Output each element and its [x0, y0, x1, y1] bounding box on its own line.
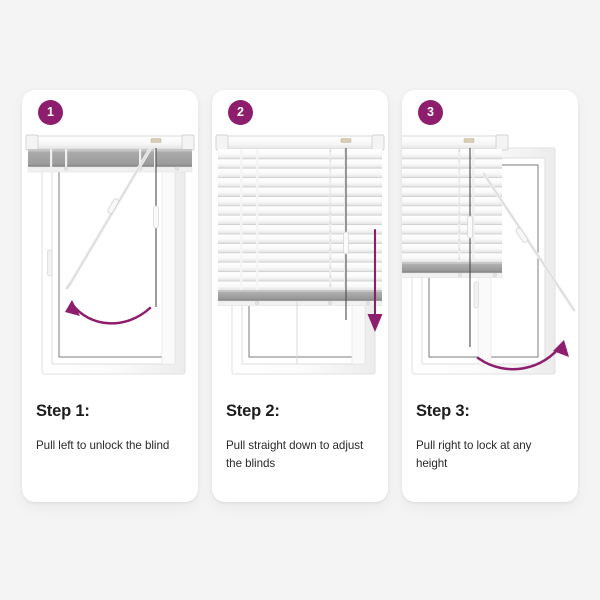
step-badge-3: 3 — [418, 100, 443, 125]
step-badge-2: 2 — [228, 100, 253, 125]
step-card-3[interactable]: 3 — [402, 90, 578, 502]
blind-slats — [218, 150, 382, 290]
step-text-1: Step 1: Pull left to unlock the blind — [36, 402, 186, 455]
illustration-step-1 — [22, 132, 198, 390]
illustration-step-3 — [402, 132, 578, 390]
step-card-list: 1 — [0, 90, 600, 502]
step-card-2[interactable]: 2 — [212, 90, 388, 502]
window-blind-lowered-illustration — [212, 132, 388, 390]
step-title-2: Step 2: — [226, 402, 376, 421]
step-description-3: Pull right to lock at any height — [416, 437, 564, 473]
step-description-2: Pull straight down to adjust the blinds — [226, 437, 374, 473]
step-badge-1: 1 — [38, 100, 63, 125]
window-blind-partial-illustration — [402, 132, 578, 390]
step-title-1: Step 1: — [36, 402, 186, 421]
step-text-3: Step 3: Pull right to lock at any height — [416, 402, 566, 473]
step-description-1: Pull left to unlock the blind — [36, 437, 184, 455]
step-text-2: Step 2: Pull straight down to adjust the… — [226, 402, 376, 473]
step-title-3: Step 3: — [416, 402, 566, 421]
blind-slats — [402, 150, 502, 262]
instruction-graphic: 1 — [0, 0, 600, 600]
step-card-1[interactable]: 1 — [22, 90, 198, 502]
illustration-step-2 — [212, 132, 388, 390]
window-blind-raised-illustration — [22, 132, 198, 390]
